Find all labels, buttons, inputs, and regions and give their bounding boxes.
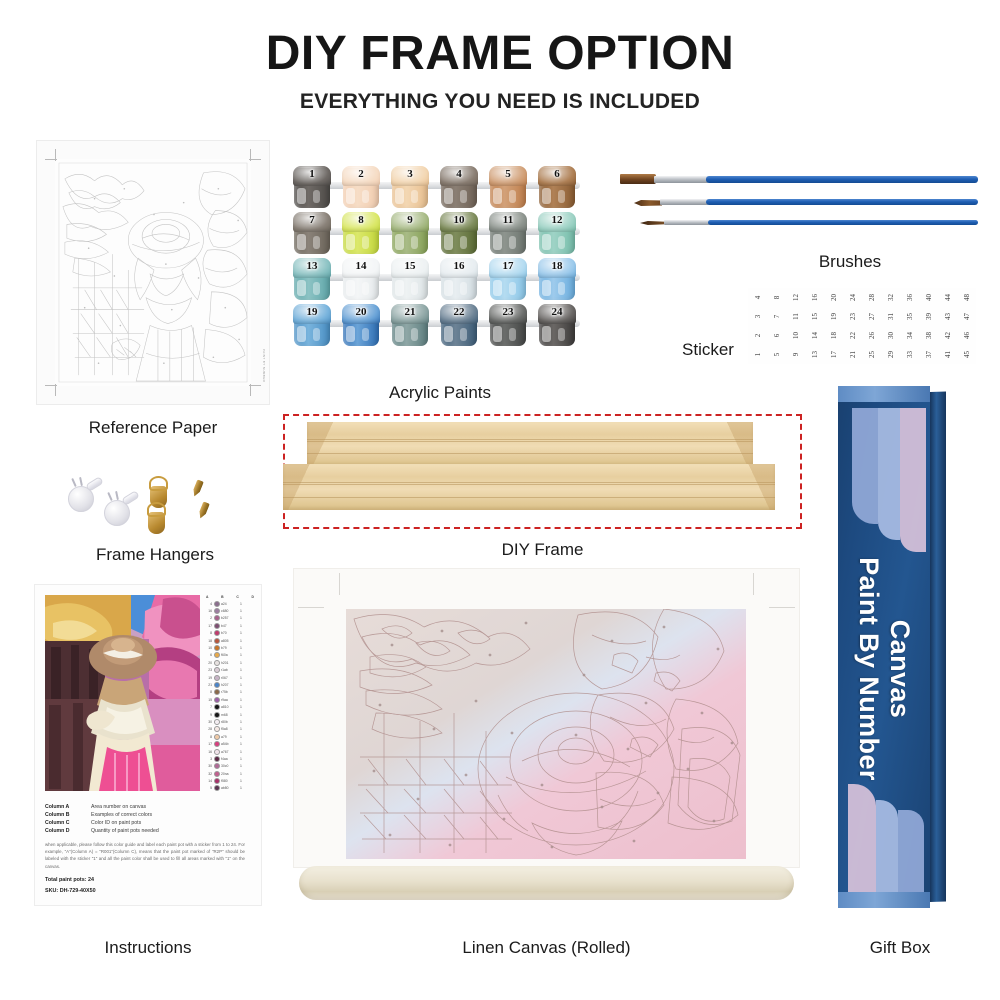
paint-pot-4[interactable]: 4 (439, 166, 479, 210)
gift-box-title: Canvas Paint By Number (853, 411, 915, 908)
paint-pot-21[interactable]: 21 (390, 304, 430, 348)
sticker-number[interactable]: 30 (881, 326, 900, 345)
crop-mark-tl-v (55, 149, 56, 161)
paint-pot-gloss (493, 234, 502, 250)
paint-pot-number: 10 (439, 214, 479, 226)
sticker-number[interactable]: 48 (957, 288, 976, 307)
caption-acrylic-paints: Acrylic Paints (292, 383, 588, 403)
legend-row: 7a8101 (205, 703, 255, 710)
legend-color-code: a805 (221, 639, 237, 643)
screw-2 (197, 501, 210, 519)
paint-pot-number: 6 (537, 168, 577, 180)
legend-area-number: 30 (205, 764, 212, 768)
caption-linen-canvas: Linen Canvas (Rolled) (293, 938, 800, 958)
sticker-number[interactable]: 45 (957, 345, 976, 364)
brush-round-handle (706, 199, 978, 205)
legend-quantity: 1 (239, 757, 244, 761)
paint-pot-gloss-2 (411, 236, 418, 249)
paint-pot-gloss (297, 234, 306, 250)
legend-color-code: h207 (221, 683, 237, 687)
legend-color-swatch (214, 719, 220, 725)
sticker-number[interactable]: 15 (805, 307, 824, 326)
legend-area-number: 5 (205, 786, 212, 790)
paint-pot-24[interactable]: 24 (537, 304, 577, 348)
brush-round-tip (634, 200, 662, 206)
sticker-number[interactable]: 7 (767, 307, 786, 326)
sticker-number[interactable]: 22 (843, 326, 862, 345)
paint-pot-16[interactable]: 16 (439, 258, 479, 302)
sticker-number[interactable]: 11 (786, 307, 805, 326)
paint-pot-19[interactable]: 19 (292, 304, 332, 348)
legend-quantity: 1 (239, 676, 244, 680)
instructions-column-description: Examples of correct colors (91, 811, 152, 819)
legend-color-code: a767 (221, 750, 237, 754)
page-title: DIY FRAME OPTION (0, 26, 1000, 81)
infographic-root: DIY FRAME OPTION EVERYTHING YOU NEED IS … (0, 0, 1000, 1000)
stretcher-bar-top (307, 422, 753, 466)
paint-pot-number: 22 (439, 306, 479, 318)
canvas-mark-right-rule (769, 607, 795, 608)
paint-pot-15[interactable]: 15 (390, 258, 430, 302)
legend-row: 8b701 (205, 630, 255, 637)
caption-frame-hangers: Frame Hangers (40, 545, 270, 565)
gift-box-title-line2: Paint By Number (853, 411, 884, 908)
legend-quantity: 1 (239, 698, 244, 702)
legend-area-number: 10 (205, 646, 212, 650)
sticker-number[interactable]: 21 (843, 345, 862, 364)
legend-color-code: 20na (221, 772, 237, 776)
paint-pot-gloss-2 (558, 236, 565, 249)
paint-pot-gloss (346, 234, 355, 250)
sticker-number[interactable]: 46 (957, 326, 976, 345)
paint-pot-gloss (297, 280, 306, 296)
sticker-number[interactable]: 13 (805, 345, 824, 364)
paint-pot-gloss (542, 326, 551, 342)
instructions-note: when applicable, please follow this colo… (45, 841, 245, 870)
legend-area-number: 20 (205, 661, 212, 665)
legend-color-swatch (214, 645, 220, 651)
legend-color-code: b79 (221, 646, 237, 650)
paint-pot-number: 19 (292, 306, 332, 318)
paint-pot-13[interactable]: 13 (292, 258, 332, 302)
sticker-number[interactable]: 33 (900, 345, 919, 364)
paint-pot-5[interactable]: 5 (488, 166, 528, 210)
paint-pot-row: 789101112 (292, 212, 588, 258)
paint-pot-gloss (444, 234, 453, 250)
legend-color-swatch (214, 689, 220, 695)
legend-color-swatch (214, 623, 220, 629)
paint-pot-number: 16 (439, 260, 479, 272)
instructions-sku: SKU: DH-729-40X50 (45, 888, 96, 894)
legend-row: 16a7671 (205, 748, 255, 755)
legend-row: 6f60a1 (205, 652, 255, 659)
paint-pot-gloss (493, 188, 502, 204)
legend-color-code: r067 (221, 676, 237, 680)
paint-pot-number: 5 (488, 168, 528, 180)
legend-row: 3f4aa1 (205, 755, 255, 762)
paint-pot-number: 4 (439, 168, 479, 180)
legend-area-number: 9 (205, 713, 212, 717)
paint-pot-1[interactable]: 1 (292, 166, 332, 210)
paint-pot-gloss (297, 188, 306, 204)
legend-row: 18a8051 (205, 637, 255, 644)
instructions-column-description: Quantity of paint pots needed (91, 827, 159, 835)
paint-pot-3[interactable]: 3 (390, 166, 430, 210)
brush-liner-ferrule (664, 220, 710, 225)
legend-area-number: 16 (205, 609, 212, 613)
sticker-number-grid: 4812162024283236404448371115192327313539… (748, 288, 976, 364)
sticker-number[interactable]: 24 (843, 288, 862, 307)
instructions-column-key: Column AArea number on canvasColumn BExa… (45, 803, 245, 835)
legend-area-number: 28 (205, 727, 212, 731)
paint-pot-gloss-2 (362, 190, 369, 203)
paint-pot-gloss-2 (460, 236, 467, 249)
paint-pot-gloss-2 (411, 282, 418, 295)
instructions-column-key-label: Column A (45, 803, 91, 811)
paint-pot-number: 9 (390, 214, 430, 226)
legend-area-number: 2 (205, 616, 212, 620)
paint-pot-number: 18 (537, 260, 577, 272)
paint-pot-row: 192021222324 (292, 304, 588, 350)
paint-pot-gloss-2 (558, 328, 565, 341)
legend-area-number: 8 (205, 735, 212, 739)
sticker-number[interactable]: 31 (881, 307, 900, 326)
sticker-number[interactable]: 14 (805, 326, 824, 345)
screw-1 (191, 479, 204, 497)
legend-color-swatch (214, 756, 220, 762)
sticker-number[interactable]: 36 (900, 288, 919, 307)
legend-quantity: 1 (239, 705, 244, 709)
paint-pot-14[interactable]: 14 (341, 258, 381, 302)
sku-label: SKU: (45, 888, 58, 894)
paint-pot-number: 20 (341, 306, 381, 318)
legend-color-code: a24 (221, 602, 237, 606)
paint-pot-23[interactable]: 23 (488, 304, 528, 348)
legend-quantity: 1 (239, 616, 244, 620)
instructions-column-row: Column AArea number on canvas (45, 803, 245, 811)
legend-row: 8a791 (205, 733, 255, 740)
diy-frame-box (283, 414, 802, 529)
legend-area-number: 23 (205, 668, 212, 672)
legend-row: 16c6801 (205, 607, 255, 614)
caption-instructions: Instructions (34, 938, 262, 958)
paint-pot-gloss-2 (362, 282, 369, 295)
paint-pot-gloss-2 (362, 236, 369, 249)
linen-canvas-sheet (293, 568, 800, 868)
brush-flat-ferrule (654, 176, 708, 183)
sticker-sheet: 4812162024283236404448371115192327313539… (748, 288, 976, 364)
sticker-number[interactable]: 20 (824, 288, 843, 307)
legend-color-swatch (214, 712, 220, 718)
legend-row: 21h2071 (205, 681, 255, 688)
paint-pot-gloss (395, 326, 404, 342)
legend-color-code: 30c0 (221, 764, 237, 768)
legend-row: 3220na1 (205, 770, 255, 777)
paint-pot-gloss-2 (411, 190, 418, 203)
paint-pot-gloss (444, 326, 453, 342)
canvas-mark-top-right (753, 573, 754, 595)
paint-pot-gloss (297, 326, 306, 342)
legend-color-code: r80b (221, 720, 237, 724)
legend-area-number: 16 (205, 750, 212, 754)
paint-pot-10[interactable]: 10 (439, 212, 479, 256)
acrylic-paints-group: 123456789101112131415161718192021222324 (292, 166, 588, 356)
legend-color-swatch (214, 667, 220, 673)
paint-pot-20[interactable]: 20 (341, 304, 381, 348)
legend-color-swatch (214, 763, 220, 769)
legend-area-number: 14 (205, 779, 212, 783)
legend-color-code: b70 (221, 631, 237, 635)
paint-pot-12[interactable]: 12 (537, 212, 577, 256)
paint-pot-number: 7 (292, 214, 332, 226)
sticker-number[interactable]: 39 (919, 307, 938, 326)
legend-quantity: 1 (239, 772, 244, 776)
legend-row: 17b471 (205, 622, 255, 629)
legend-quantity: 1 (239, 639, 244, 643)
stretcher-bar-bottom (283, 464, 775, 510)
paint-pot-gloss (346, 280, 355, 296)
legend-color-swatch (214, 638, 220, 644)
crop-mark-br-v (250, 384, 251, 396)
legend-color-code: b257 (221, 616, 237, 620)
caption-brushes: Brushes (760, 252, 940, 272)
paint-pot-number: 11 (488, 214, 528, 226)
instructions-column-key-label: Column B (45, 811, 91, 819)
paint-pot-11[interactable]: 11 (488, 212, 528, 256)
legend-color-code: a54b (221, 742, 237, 746)
legend-quantity: 1 (239, 661, 244, 665)
legend-area-number: 21 (205, 683, 212, 687)
legend-quantity: 1 (239, 690, 244, 694)
instructions-preview-svg (45, 595, 200, 791)
total-pots-label: Total paint pots: (45, 877, 87, 883)
sticker-number[interactable]: 17 (824, 345, 843, 364)
legend-row: 14f5801 (205, 777, 255, 784)
legend-color-code: m68 (221, 713, 237, 717)
sticker-number[interactable]: 5 (767, 345, 786, 364)
sticker-number[interactable]: 3 (748, 307, 767, 326)
total-pots-value: 24 (88, 877, 94, 883)
sticker-number[interactable]: 12 (786, 288, 805, 307)
instructions-column-key-label: Column D (45, 827, 91, 835)
legend-quantity: 1 (239, 609, 244, 613)
sticker-number[interactable]: 43 (938, 307, 957, 326)
paint-pot-gloss (395, 280, 404, 296)
legend-area-number: 18 (205, 639, 212, 643)
sticker-number[interactable]: 10 (786, 326, 805, 345)
sticker-number[interactable]: 4 (748, 288, 767, 307)
sticker-number[interactable]: 41 (938, 345, 957, 364)
paint-pot-number: 2 (341, 168, 381, 180)
legend-color-code: h201 (221, 661, 237, 665)
gift-box-side-panel (930, 391, 946, 902)
paint-pot-gloss-2 (313, 282, 320, 295)
caption-sticker: Sticker (652, 340, 764, 360)
legend-color-code: b47 (221, 624, 237, 628)
sticker-number[interactable]: 34 (900, 326, 919, 345)
legend-quantity: 1 (239, 631, 244, 635)
sticker-number[interactable]: 38 (919, 326, 938, 345)
legend-color-code: r75b (221, 690, 237, 694)
legend-area-number: 3 (205, 757, 212, 761)
paint-pot-17[interactable]: 17 (488, 258, 528, 302)
paint-pot-18[interactable]: 18 (537, 258, 577, 302)
sticker-number[interactable]: 19 (824, 307, 843, 326)
reference-paper-side-code: PAINT BY NUMBER (262, 349, 266, 382)
sticker-number[interactable]: 6 (767, 326, 786, 345)
sticker-number[interactable]: 32 (881, 288, 900, 307)
legend-row: 19r0671 (205, 674, 255, 681)
brush-flat-tip (620, 174, 656, 184)
sticker-number[interactable]: 35 (900, 307, 919, 326)
gift-box-group: Canvas Paint By Number (838, 386, 948, 908)
legend-row: 2b2571 (205, 615, 255, 622)
legend-header-b: B (221, 595, 223, 599)
legend-color-swatch (214, 608, 220, 614)
linen-canvas-roll (299, 866, 794, 900)
paint-pot-8[interactable]: 8 (341, 212, 381, 256)
legend-area-number: 30 (205, 720, 212, 724)
paint-pot-gloss-2 (509, 328, 516, 341)
legend-color-swatch (214, 682, 220, 688)
legend-quantity: 1 (239, 727, 244, 731)
sticker-number[interactable]: 27 (862, 307, 881, 326)
legend-color-swatch (214, 741, 220, 747)
legend-area-number: 8 (205, 631, 212, 635)
instructions-column-row: Column DQuantity of paint pots needed (45, 827, 245, 835)
paint-pot-number: 1 (292, 168, 332, 180)
legend-area-number: 6 (205, 653, 212, 657)
legend-color-code: c680 (221, 609, 237, 613)
legend-color-code: f580 (221, 779, 237, 783)
canvas-mark-left-rule (298, 607, 324, 608)
sticker-number[interactable]: 16 (805, 288, 824, 307)
paint-pot-2[interactable]: 2 (341, 166, 381, 210)
legend-quantity: 1 (239, 668, 244, 672)
legend-header-d: D (252, 595, 254, 599)
paint-pot-6[interactable]: 6 (537, 166, 577, 210)
paint-pot-number: 21 (390, 306, 430, 318)
paint-pot-gloss (395, 188, 404, 204)
gift-box-cap-top (838, 386, 930, 402)
reference-lineart-svg (55, 159, 251, 386)
sticker-number[interactable]: 42 (938, 326, 957, 345)
gift-box-front-panel: Canvas Paint By Number (838, 386, 930, 908)
legend-color-code: f4aa (221, 757, 237, 761)
paint-pot-number: 8 (341, 214, 381, 226)
paint-pot-gloss (542, 234, 551, 250)
instructions-column-description: Area number on canvas (91, 803, 146, 811)
legend-row: 30r80b1 (205, 718, 255, 725)
legend-color-swatch (214, 630, 220, 636)
paint-pot-gloss-2 (509, 236, 516, 249)
legend-color-code: a79 (221, 735, 237, 739)
legend-row: 8r75b1 (205, 689, 255, 696)
paint-pot-gloss (493, 326, 502, 342)
legend-row: 3030c01 (205, 763, 255, 770)
instructions-column-row: Column BExamples of correct colors (45, 811, 245, 819)
sticker-number[interactable]: 8 (767, 288, 786, 307)
gift-box-title-line1: Canvas (884, 411, 915, 908)
legend-row: 4a241 (205, 600, 255, 607)
legend-quantity: 1 (239, 764, 244, 768)
caption-gift-box: Gift Box (820, 938, 980, 958)
frame-hangers-group (62, 470, 242, 532)
sticker-number[interactable]: 25 (862, 345, 881, 364)
legend-header-c: C (236, 595, 238, 599)
paint-pot-gloss (346, 326, 355, 342)
legend-color-code: r1ab (221, 668, 237, 672)
paint-pot-22[interactable]: 22 (439, 304, 479, 348)
legend-color-swatch (214, 785, 220, 791)
legend-row: 23r1ab1 (205, 667, 255, 674)
legend-row: 10b791 (205, 644, 255, 651)
crop-mark-tr-v (250, 149, 251, 161)
paint-pot-gloss-2 (460, 328, 467, 341)
sticker-number[interactable]: 18 (824, 326, 843, 345)
legend-color-swatch (214, 749, 220, 755)
legend-row: 9m681 (205, 711, 255, 718)
sticker-number[interactable]: 9 (786, 345, 805, 364)
linen-canvas-lineart (346, 609, 746, 859)
canvas-lineart-svg (346, 609, 746, 859)
sticker-number[interactable]: 47 (957, 307, 976, 326)
paint-pot-gloss (542, 280, 551, 296)
paint-pot-gloss (444, 188, 453, 204)
instructions-sheet: A B C D 4a24116c68012b257117b4718b70118a… (34, 584, 262, 906)
legend-color-swatch (214, 675, 220, 681)
legend-area-number: 4 (205, 602, 212, 606)
legend-quantity: 1 (239, 713, 244, 717)
crop-mark-bl-v (55, 384, 56, 396)
sku-value: DH-729-40X50 (60, 888, 96, 894)
paint-pot-7[interactable]: 7 (292, 212, 332, 256)
reference-paper-lineart (55, 159, 251, 386)
legend-quantity: 1 (239, 683, 244, 687)
sticker-number[interactable]: 40 (919, 288, 938, 307)
paint-pot-9[interactable]: 9 (390, 212, 430, 256)
instructions-total-pots: Total paint pots: 24 (45, 877, 94, 883)
linen-canvas-group (293, 568, 800, 908)
paint-pot-row: 131415161718 (292, 258, 588, 304)
sticker-number[interactable]: 29 (881, 345, 900, 364)
paint-pot-gloss-2 (313, 328, 320, 341)
legend-row: 15r9aa1 (205, 696, 255, 703)
legend-quantity: 1 (239, 735, 244, 739)
paint-pot-number: 12 (537, 214, 577, 226)
sticker-number[interactable]: 37 (919, 345, 938, 364)
legend-quantity: 1 (239, 602, 244, 606)
paint-pot-gloss-2 (411, 328, 418, 341)
legend-color-swatch (214, 726, 220, 732)
legend-color-code: f60a (221, 653, 237, 657)
legend-color-swatch (214, 697, 220, 703)
brush-flat-handle (706, 176, 978, 183)
paint-pot-gloss-2 (509, 282, 516, 295)
paint-pot-gloss (346, 188, 355, 204)
caption-reference-paper: Reference Paper (36, 418, 270, 438)
legend-area-number: 17 (205, 624, 212, 628)
instructions-color-preview (45, 595, 200, 791)
paint-pot-number: 24 (537, 306, 577, 318)
sticker-number[interactable]: 23 (843, 307, 862, 326)
sticker-number[interactable]: 44 (938, 288, 957, 307)
legend-rows-container: 4a24116c68012b257117b4718b70118a805110b7… (205, 600, 255, 792)
sticker-number[interactable]: 26 (862, 326, 881, 345)
legend-area-number: 7 (205, 705, 212, 709)
sticker-number[interactable]: 28 (862, 288, 881, 307)
paint-pot-number: 14 (341, 260, 381, 272)
